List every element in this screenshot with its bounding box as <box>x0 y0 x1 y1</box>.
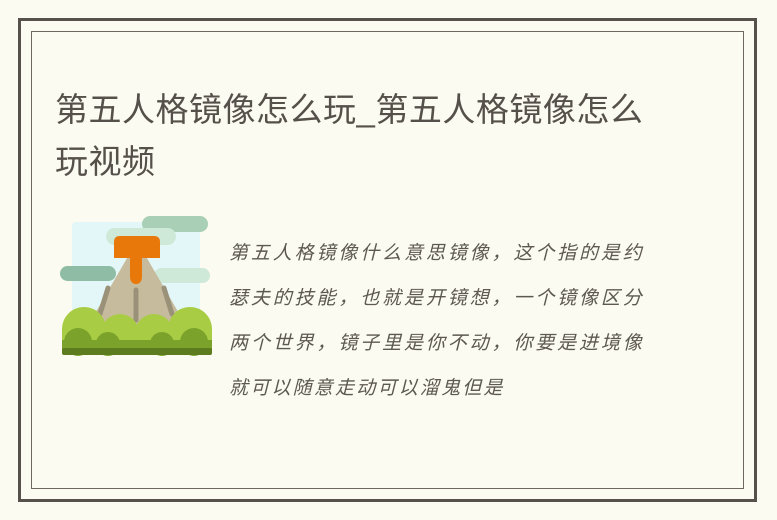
ground-bar <box>62 348 212 355</box>
volcano-icon <box>58 210 216 364</box>
cloud-left-icon <box>60 266 116 281</box>
page-title: 第五人格镜像怎么玩_第五人格镜像怎么玩视频 <box>55 84 655 188</box>
crater <box>114 236 160 258</box>
article-body: 第五人格镜像什么意思镜像，这个指的是约瑟夫的技能，也就是开镜想，一个镜像区分两个… <box>229 231 644 411</box>
cloud-right-icon <box>154 268 210 283</box>
volcano-illustration <box>58 210 216 364</box>
lava-flow <box>130 256 142 284</box>
page-root: 第五人格镜像怎么玩_第五人格镜像怎么玩视频 <box>0 0 777 520</box>
